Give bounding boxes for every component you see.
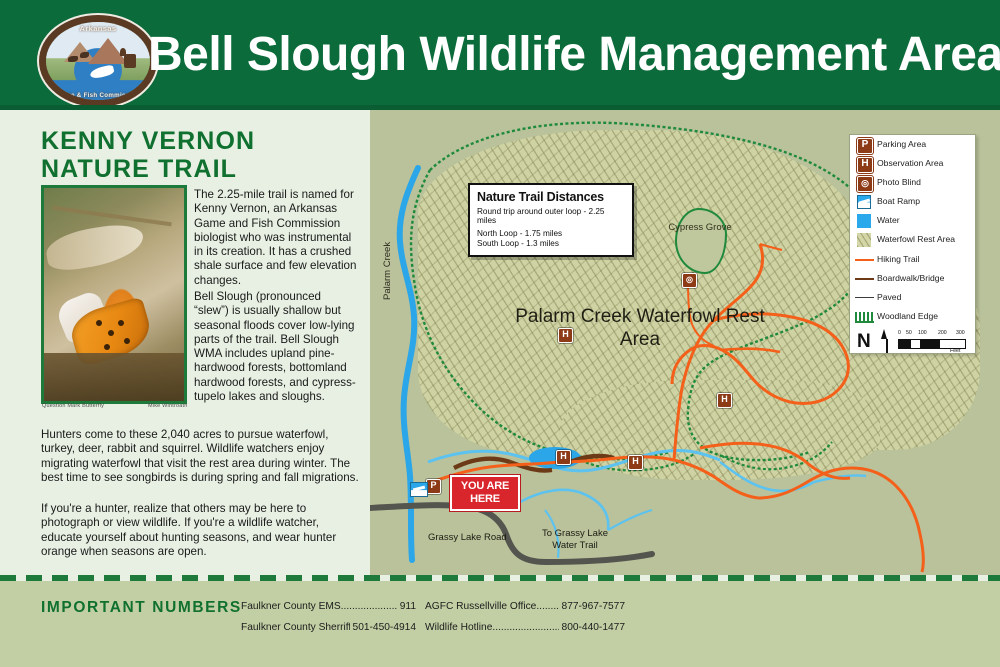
photo-wing-spot <box>108 330 114 336</box>
phone-value: 800-440-1477 <box>559 617 625 638</box>
legend-label: Parking Area <box>877 138 926 151</box>
butterfly-photo <box>41 185 187 404</box>
logo-duck-icon <box>68 56 78 62</box>
wma-information-poster: Arkansas Game & Fish Commission Bell Slo… <box>0 0 1000 667</box>
logo-bottom-text: Game & Fish Commission <box>46 92 150 99</box>
nature-trail-distances-box: Nature Trail Distances Round trip around… <box>468 183 634 257</box>
phone-value: 877-967-7577 <box>559 596 625 617</box>
scale-tick: 300 <box>956 330 965 336</box>
legend-item-observation: H Observation Area <box>850 154 975 173</box>
legend-item-woodland-edge: Woodland Edge <box>850 307 975 326</box>
scale-tick-labels: 0 50 100 200 300 <box>896 330 968 339</box>
phone-label: Faulkner County EMS.................... <box>241 596 397 617</box>
cypress-grove-polygon <box>675 208 727 274</box>
important-numbers-heading: IMPORTANT NUMBERS <box>41 599 242 617</box>
water-swatch-icon <box>857 214 871 228</box>
phone-label: Faulkner County Sherriff................ <box>241 617 350 638</box>
photo-caption-subject: Question Mark Butterfly <box>42 403 104 409</box>
agfc-logo: Arkansas Game & Fish Commission <box>46 22 150 100</box>
phone-value: 501-450-4914 <box>350 617 416 638</box>
legend-label: Woodland Edge <box>877 310 938 323</box>
legend-item-water: Water <box>850 211 975 230</box>
phone-value: 911 <box>397 596 416 617</box>
legend-label: Photo Blind <box>877 176 921 189</box>
legend-item-hiking-trail: Hiking Trail <box>850 250 975 269</box>
poster-footer: IMPORTANT NUMBERS Faulkner County EMS...… <box>0 581 1000 667</box>
paragraph-trail-naming: The 2.25-mile trail is named for Kenny V… <box>194 188 357 288</box>
phone-row: Faulkner County Sherriff................… <box>241 617 416 638</box>
scale-tick: 200 <box>938 330 947 336</box>
rest-area-label: Palarm Creek Waterfowl Rest Area <box>500 305 780 351</box>
legend-item-paved: Paved <box>850 288 975 307</box>
paragraph-safety: If you're a hunter, realize that others … <box>41 502 359 559</box>
map-boat-ramp-icon[interactable] <box>410 482 428 497</box>
legend-label: Waterfowl Rest Area <box>877 233 955 246</box>
photo-leaf <box>44 221 147 274</box>
map-parking-icon[interactable]: P <box>426 479 441 494</box>
legend-item-boardwalk: Boardwalk/Bridge <box>850 269 975 288</box>
distances-south-loop: South Loop - 1.3 miles <box>477 239 625 249</box>
map-photo-blind-icon[interactable]: ◎ <box>682 273 697 288</box>
boat-ramp-icon <box>857 195 871 209</box>
boardwalk-bridge-line-icon <box>855 278 874 281</box>
woodland-edge-line-icon <box>855 312 874 323</box>
scale-units-label: Feet <box>950 348 960 354</box>
legend-label: Boat Ramp <box>877 195 920 208</box>
grassy-lake-road-label: Grassy Lake Road <box>428 532 507 543</box>
north-label: N <box>857 332 871 351</box>
photo-shadow <box>44 353 184 401</box>
palarm-creek-label: Palarm Creek <box>382 242 393 300</box>
scale-tick: 50 <box>906 330 912 336</box>
legend-item-parking: P Parking Area <box>850 135 975 154</box>
scale-seg <box>899 340 911 348</box>
you-are-here-marker: YOU ARE HERE <box>450 475 520 511</box>
photo-caption-credit: Mike Wintroath <box>148 403 187 409</box>
legend-label: Paved <box>877 291 901 304</box>
scale-seg <box>920 340 940 348</box>
legend-item-boat-ramp: Boat Ramp <box>850 192 975 211</box>
observation-icon: H <box>857 157 873 173</box>
paragraph-slough-description: Bell Slough (pronounced “slew”) is usual… <box>194 290 357 404</box>
map-legend: P Parking Area H Observation Area ◎ Phot… <box>849 134 976 354</box>
legend-label: Observation Area <box>877 157 943 170</box>
waterfowl-rest-area-swatch-icon <box>857 233 871 247</box>
page-title: Bell Slough Wildlife Management Area <box>148 27 1000 82</box>
phone-row: AGFC Russellville Office................… <box>425 596 625 617</box>
photo-wing-spot <box>104 344 110 350</box>
photo-wing-spot <box>118 320 124 326</box>
paragraph-hunters: Hunters come to these 2,040 acres to pur… <box>41 428 359 485</box>
map-observation-icon-east[interactable]: H <box>717 393 732 408</box>
photo-wing-spot <box>96 320 102 326</box>
left-info-panel: KENNY VERNON NATURE TRAIL Question Mark … <box>0 110 370 575</box>
poster-header: Arkansas Game & Fish Commission Bell Slo… <box>0 0 1000 105</box>
legend-scale-block: N 0 50 100 200 300 Feet <box>850 326 975 364</box>
map-observation-icon-north[interactable]: H <box>558 328 573 343</box>
map-observation-icon-west[interactable]: H <box>556 450 571 465</box>
phone-column-right: AGFC Russellville Office................… <box>425 596 625 638</box>
phone-label: AGFC Russellville Office................ <box>425 596 559 617</box>
you-are-here-label: YOU ARE HERE <box>452 480 518 506</box>
legend-label: Hiking Trail <box>877 253 920 266</box>
legend-label: Water <box>877 214 900 227</box>
paved-line-icon <box>855 297 874 299</box>
parking-icon: P <box>857 138 873 154</box>
scale-tick: 100 <box>918 330 927 336</box>
photo-twig <box>52 206 171 227</box>
trail-title: KENNY VERNON NATURE TRAIL <box>41 127 361 183</box>
logo-top-text: Arkansas <box>46 24 150 33</box>
phone-row: Faulkner County EMS.................... … <box>241 596 416 617</box>
distances-title: Nature Trail Distances <box>477 190 625 204</box>
map-observation-icon-central[interactable]: H <box>628 455 643 470</box>
phone-label: Wildlife Hotline........................… <box>425 617 559 638</box>
legend-label: Boardwalk/Bridge <box>877 272 944 285</box>
scale-tick: 0 <box>898 330 901 336</box>
distances-north-loop: North Loop - 1.75 miles <box>477 229 625 239</box>
logo-fish-icon <box>89 64 115 80</box>
north-arrow-icon <box>881 329 887 339</box>
legend-item-photo-blind: ◎ Photo Blind <box>850 173 975 192</box>
phone-row: Wildlife Hotline........................… <box>425 617 625 638</box>
water-trail-label: To Grassy Lake Water Trail <box>530 528 620 552</box>
hiking-trail-line-icon <box>855 259 874 262</box>
logo-duck2-icon <box>80 52 89 58</box>
phone-column-left: Faulkner County EMS.................... … <box>241 596 416 638</box>
scale-seg <box>911 340 920 348</box>
legend-item-rest-area: Waterfowl Rest Area <box>850 230 975 249</box>
scale-seg <box>940 340 965 348</box>
photo-blind-icon: ◎ <box>857 176 873 192</box>
logo-deer-icon <box>124 54 136 68</box>
cypress-grove-label: Cypress Grove <box>667 222 733 233</box>
distances-outer-loop: Round trip around outer loop - 2.25 mile… <box>477 207 625 225</box>
photo-wing-spot <box>124 338 130 344</box>
